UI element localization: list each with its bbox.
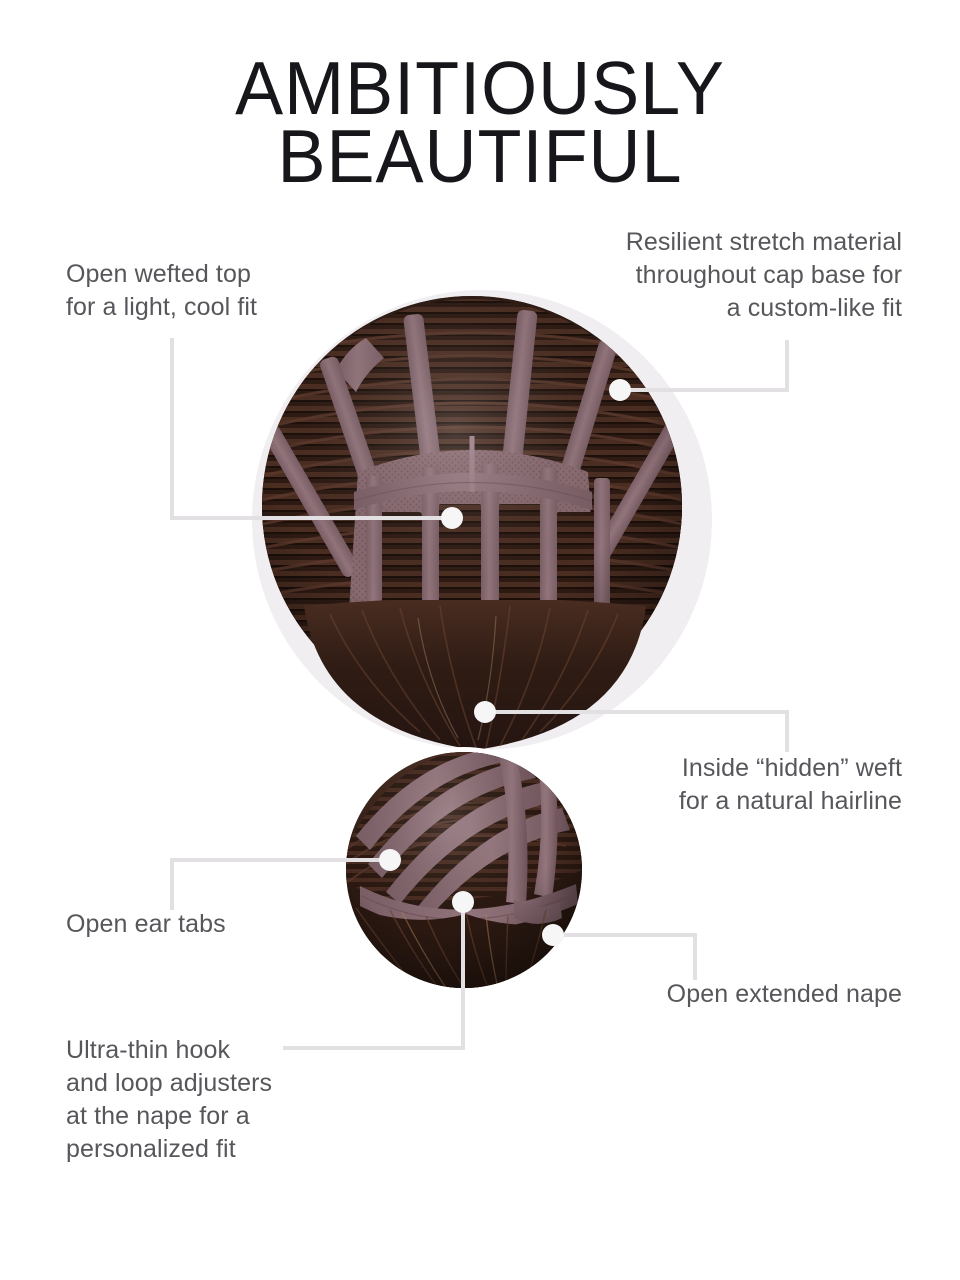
wig-cap-nape-photo xyxy=(346,752,582,988)
callout-wefted-top: Open wefted top for a light, cool fit xyxy=(66,258,366,324)
callout-ear-tabs: Open ear tabs xyxy=(66,908,366,941)
callout-stretch-material: Resilient stretch material throughout ca… xyxy=(542,226,902,325)
callout-hidden-weft: Inside “hidden” weft for a natural hairl… xyxy=(572,752,902,818)
wig-cap-nape-illustration xyxy=(346,752,582,988)
title-line-2: BEAUTIFUL xyxy=(0,119,960,196)
page-title: AMBITIOUSLY BEAUTIFUL xyxy=(0,52,960,194)
infographic-page: AMBITIOUSLY BEAUTIFUL xyxy=(0,0,960,1280)
leader-line-extended-nape xyxy=(553,935,695,980)
callout-hook-loop-adjusters: Ultra-thin hook and loop adjusters at th… xyxy=(66,1034,356,1166)
callout-extended-nape: Open extended nape xyxy=(562,978,902,1011)
